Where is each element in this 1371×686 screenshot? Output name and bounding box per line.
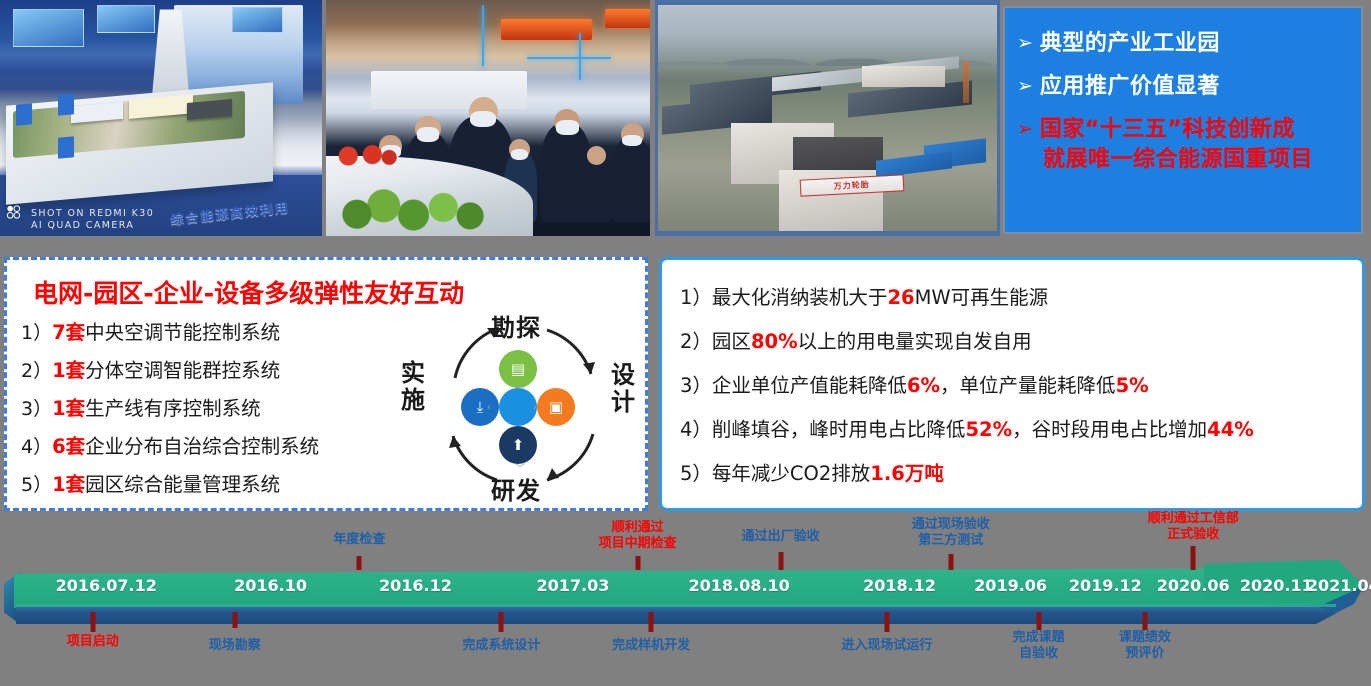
face-mask [556, 120, 579, 134]
timeline-date: 2019.06 [974, 576, 1047, 595]
neon-strip [527, 57, 611, 59]
list-item: 4）6套企业分布自治综合控制系统 [21, 428, 401, 466]
timeline-event-line: 通过现场验收 [912, 517, 990, 533]
highlights-callout: ➢ 典型的产业工业园 ➢ 应用推广价值显著 ➢ 国家“十三五”科技创新成 就展唯… [1003, 6, 1363, 234]
timeline-event-line: 年度检查 [333, 532, 385, 548]
timeline-marker-stem [1191, 546, 1196, 570]
list-item: 1）最大化消纳装机大于26MW可再生能源 [680, 276, 1352, 320]
timeline-event-label: 项目启动 [67, 634, 119, 650]
timeline-event-label: 完成系统设计 [462, 638, 540, 654]
model-signpost [58, 136, 74, 159]
timeline-marker-stem [1036, 612, 1041, 630]
timeline-event-label: 现场勘察 [209, 638, 261, 654]
list-item: 3）1套生产线有序控制系统 [21, 390, 401, 428]
timeline-event-line: 自验收 [1013, 646, 1065, 662]
timeline-date: 2017.03 [537, 576, 610, 595]
timeline-event-line: 顺利通过 [599, 520, 677, 536]
item-highlight: 26 [887, 286, 914, 309]
booth-screen [97, 5, 155, 33]
chevron-bullet-icon: ➢ [1017, 116, 1033, 142]
chevron-up-icon: ︿ [515, 376, 525, 391]
callout-bullet-text: 国家“十三五”科技创新成 [1040, 116, 1295, 143]
timeline-event-label: 顺利通过项目中期检查 [599, 520, 677, 552]
timeline-date: 2016.12 [379, 576, 452, 595]
model-red-structures [332, 142, 397, 170]
callout-bullet: ➢ 应用推广价值显著 [1017, 73, 1353, 100]
list-item: 2）1套分体空调智能群控系统 [21, 352, 401, 390]
timeline-event-label: 进入现场试运行 [841, 638, 932, 654]
timeline-event-line: 课题绩效 [1119, 630, 1171, 646]
item-qty: 7套 [52, 321, 85, 344]
timeline-event-label: 完成课题自验收 [1013, 630, 1065, 662]
face-mask [622, 135, 641, 147]
smokestack [963, 61, 969, 103]
timeline-date: 2018.12 [863, 576, 936, 595]
item-text: 园区 [712, 330, 751, 353]
item-highlight: 44% [1207, 418, 1254, 441]
item-number: 4） [680, 418, 712, 441]
timeline-event-label: 年度检查 [333, 532, 385, 548]
timeline-date: 2020.11 [1240, 576, 1313, 595]
benefits-panel: 1）最大化消纳装机大于26MW可再生能源 2）园区80%以上的用电量实现自发自用… [659, 257, 1365, 511]
timeline-event-line: 正式验收 [1148, 527, 1239, 543]
item-text: 中央空调节能控制系统 [85, 321, 280, 344]
model-trees [339, 189, 488, 231]
chevron-bullet-icon: ➢ [1017, 30, 1033, 56]
interaction-summary-panel: 电网-园区-企业-设备多级弹性友好互动 1）7套中央空调节能控制系统 2）1套分… [4, 257, 648, 511]
item-highlight: 52% [965, 418, 1012, 441]
callout-bullet-text: 典型的产业工业园 [1040, 30, 1220, 57]
item-text: 分体空调智能群控系统 [85, 359, 280, 382]
timeline-event-line: 项目启动 [67, 634, 119, 650]
watermark-line-1: SHOT ON REDMI K30 [31, 208, 154, 219]
item-text: 每年减少CO2排放 [712, 462, 870, 485]
item-text: MW可再生能源 [915, 286, 1049, 309]
item-text: 企业分布自治综合控制系统 [85, 435, 319, 458]
camera-icon: ▣ [549, 398, 563, 416]
list-item: 5）每年减少CO2排放1.6万吨 [680, 452, 1352, 496]
item-number: 2） [680, 330, 712, 353]
list-item: 2）园区80%以上的用电量实现自发自用 [680, 320, 1352, 364]
timeline-event-line: 完成课题 [1013, 630, 1065, 646]
item-number: 1） [21, 322, 52, 344]
timeline-date: 2020.06 [1157, 576, 1230, 595]
photo-officials-visit [326, 0, 650, 236]
item-highlight: 5% [1116, 374, 1149, 397]
item-qty: 1套 [52, 397, 85, 420]
led-banner-screen [605, 9, 650, 28]
item-number: 3） [680, 374, 712, 397]
cycle-label-top: 勘探 [491, 308, 541, 343]
item-text: 最大化消纳装机大于 [712, 286, 888, 309]
timeline-marker-stem [884, 612, 889, 632]
timeline-event-label: 顺利通过工信部正式验收 [1148, 511, 1239, 543]
exhibit-booth [371, 71, 527, 109]
cycle-node-blue-download-icon: ⤓ [461, 388, 499, 426]
right-panel-list: 1）最大化消纳装机大于26MW可再生能源 2）园区80%以上的用电量实现自发自用… [680, 276, 1352, 496]
item-text: 园区综合能量管理系统 [85, 473, 280, 496]
callout-bullet: ➢ 国家“十三五”科技创新成 [1017, 116, 1353, 143]
item-text: ，谷时段用电占比增加 [1012, 418, 1207, 441]
left-panel-list: 1）7套中央空调节能控制系统 2）1套分体空调智能群控系统 3）1套生产线有序控… [21, 314, 401, 504]
photo-aerial-industrial-park: 万力轮胎 [655, 0, 1000, 236]
timeline-marker-stem [649, 612, 654, 632]
chevron-right-icon: › [533, 402, 537, 413]
chevron-bullet-icon: ➢ [1017, 73, 1033, 99]
redmi-camera-icon [6, 205, 26, 219]
item-text: ，单位产量能耗降低 [940, 374, 1116, 397]
cycle-label-left: 实施 [401, 360, 423, 414]
neon-strip [482, 5, 484, 66]
chevron-left-icon: ‹ [487, 402, 491, 413]
list-item: 3）企业单位产值能耗降低6%，单位产量能耗降低5% [680, 364, 1352, 408]
timeline-event-line: 现场勘察 [209, 638, 261, 654]
item-qty: 1套 [52, 473, 85, 496]
item-highlight: 80% [751, 330, 798, 353]
timeline-marker-stem [357, 556, 362, 570]
face-mask [470, 111, 496, 128]
item-number: 5） [21, 474, 52, 496]
timeline-event-line: 预评价 [1119, 646, 1171, 662]
cycle-node-navy-cloud-icon: ⬆ [499, 426, 537, 464]
cycle-node-orange-camera-icon: ▣ [537, 388, 575, 426]
list-item: 4）削峰填谷，峰时用电占比降低52%，谷时段用电占比增加44% [680, 408, 1352, 452]
timeline-event-label: 通过出厂验收 [742, 529, 820, 545]
item-number: 3） [21, 398, 52, 420]
cycle-label-bottom: 研发 [491, 471, 541, 506]
cloud-upload-icon: ⬆ [512, 436, 525, 454]
timeline-event-line: 进入现场试运行 [841, 638, 932, 654]
watermark-line-2: AI QUAD CAMERA [31, 220, 134, 231]
cycle-node-center-hub [499, 388, 537, 426]
item-number: 1） [680, 286, 712, 309]
factory-banner-text: 万力轮胎 [833, 179, 870, 192]
timeline-event-line: 完成样机开发 [612, 638, 690, 654]
booth-screen [232, 7, 284, 33]
item-highlight: 6% [907, 374, 940, 397]
item-text: 以上的用电量实现自发自用 [798, 330, 1032, 353]
timeline-base-highlight [16, 604, 1336, 607]
timeline-marker-stem [499, 612, 504, 632]
timeline-marker-stem [90, 612, 95, 632]
model-signpost [16, 103, 32, 126]
timeline-event-line: 通过出厂验收 [742, 529, 820, 545]
list-item: 5）1套园区综合能量管理系统 [21, 466, 401, 504]
timeline-event-label: 课题绩效预评价 [1119, 630, 1171, 662]
person-figure [582, 156, 611, 222]
item-text: 企业单位产值能耗降低 [712, 374, 907, 397]
item-number: 5） [680, 462, 712, 485]
slide-canvas: 综合能源高效利用 SHOT ON REDMI K30 AI QUAD CAMER… [0, 0, 1371, 686]
download-icon: ⤓ [477, 398, 484, 416]
chevron-down-icon: ﹀ [515, 460, 525, 475]
timeline-marker-stem [778, 552, 783, 570]
callout-bullet-text: 应用推广价值显著 [1040, 73, 1220, 100]
timeline-marker-stem [1142, 612, 1147, 630]
model-signpost [58, 94, 74, 117]
timeline-marker-stem [635, 556, 640, 570]
camera-watermark: SHOT ON REDMI K30 AI QUAD CAMERA [6, 205, 154, 232]
face-mask [417, 127, 440, 141]
blue-roof-building [876, 151, 952, 177]
callout-bullet-text-continued: 就展唯一综合能源国重项目 [1043, 145, 1353, 175]
timeline-event-label: 完成样机开发 [612, 638, 690, 654]
cycle-label-right: 设计 [611, 362, 633, 416]
callout-bullet: ➢ 典型的产业工业园 [1017, 30, 1353, 57]
item-highlight: 1.6万吨 [870, 462, 944, 485]
timeline-date: 2016.10 [234, 576, 307, 595]
person-figure [611, 137, 650, 222]
photo-exhibition-hall-model: 综合能源高效利用 SHOT ON REDMI K30 AI QUAD CAMER… [0, 0, 322, 236]
item-text: 削峰填谷，峰时用电占比降低 [712, 418, 966, 441]
timeline-date: 2018.08.10 [689, 576, 790, 595]
item-qty: 6套 [52, 435, 85, 458]
lifecycle-diagram: 勘探 设计 研发 实施 ▤ ⤓ ▣ ⬆ ︿ ﹀ ‹ › [395, 300, 639, 508]
project-timeline: 2016.07.122016.102016.122017.032018.08.1… [0, 520, 1371, 686]
timeline-event-line: 完成系统设计 [462, 638, 540, 654]
item-qty: 1套 [52, 359, 85, 382]
timeline-bar [14, 568, 1354, 608]
booth-screen [13, 9, 84, 47]
timeline-date: 2019.12 [1069, 576, 1142, 595]
timeline-marker-stem [948, 554, 953, 570]
list-item: 1）7套中央空调节能控制系统 [21, 314, 401, 352]
timeline-event-line: 顺利通过工信部 [1148, 511, 1239, 527]
item-number: 2） [21, 360, 52, 382]
item-text: 生产线有序控制系统 [85, 397, 261, 420]
warehouse-building [862, 66, 945, 87]
timeline-marker-stem [232, 612, 237, 628]
timeline-date: 2016.07.12 [56, 576, 157, 595]
item-number: 4） [21, 436, 52, 458]
timeline-base [16, 606, 1336, 624]
timeline-event-label: 通过现场验收第三方测试 [912, 517, 990, 549]
timeline-event-line: 项目中期检查 [599, 536, 677, 552]
timeline-event-line: 第三方测试 [912, 533, 990, 549]
timeline-date: 2021.04.08 [1307, 576, 1371, 595]
